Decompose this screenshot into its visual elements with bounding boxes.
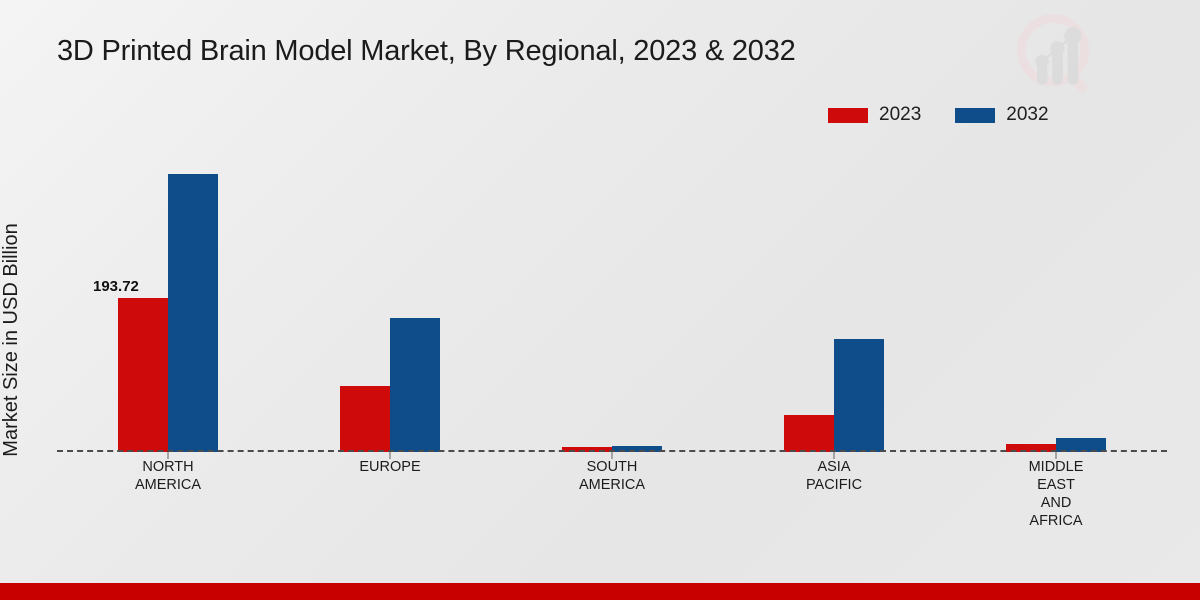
bar-group: MIDDLEEASTANDAFRICA: [945, 150, 1167, 452]
bar-pair: [57, 150, 279, 452]
category-label-line: SOUTH: [512, 458, 712, 476]
category-label-line: EUROPE: [290, 458, 490, 476]
watermark-logo: [1009, 8, 1105, 104]
category-label-line: EAST: [956, 476, 1156, 494]
y-axis-title: Market Size in USD Billion: [0, 175, 23, 505]
x-axis-category-label: SOUTHAMERICA: [512, 458, 712, 494]
legend-label-2023: 2023: [879, 104, 921, 126]
footer-accent-bar: [0, 583, 1200, 600]
bar-pair: [723, 150, 945, 452]
category-label-line: NORTH: [68, 458, 268, 476]
bar-2023[interactable]: [784, 415, 834, 452]
x-axis-baseline: [57, 450, 1167, 452]
bar-2032[interactable]: [168, 174, 218, 452]
bar-2032[interactable]: [390, 318, 440, 452]
category-label-line: AND: [956, 494, 1156, 512]
category-label-line: MIDDLE: [956, 458, 1156, 476]
bar-pair: [279, 150, 501, 452]
legend-swatch-2032: [955, 108, 995, 123]
category-label-line: ASIA: [734, 458, 934, 476]
bar-2023[interactable]: [118, 298, 168, 452]
x-axis-category-label: ASIAPACIFIC: [734, 458, 934, 494]
legend-swatch-2023: [828, 108, 868, 123]
bar-2032[interactable]: [834, 339, 884, 452]
legend-label-2032: 2032: [1006, 104, 1048, 126]
chart-legend: 2023 2032: [828, 104, 1049, 126]
bar-group: EUROPE: [279, 150, 501, 452]
category-label-line: PACIFIC: [734, 476, 934, 494]
legend-item-2023[interactable]: 2023: [828, 104, 921, 126]
page-title: 3D Printed Brain Model Market, By Region…: [57, 35, 796, 68]
bar-group: ASIAPACIFIC: [723, 150, 945, 452]
bar-group: 193.72NORTHAMERICA: [57, 150, 279, 452]
legend-item-2032[interactable]: 2032: [955, 104, 1048, 126]
x-axis-category-label: MIDDLEEASTANDAFRICA: [956, 458, 1156, 530]
x-axis-category-label: EUROPE: [290, 458, 490, 476]
bar-pair: [501, 150, 723, 452]
bar-data-label: 193.72: [93, 278, 139, 295]
bar-pair: [945, 150, 1167, 452]
x-axis-category-label: NORTHAMERICA: [68, 458, 268, 494]
plot-area: 193.72NORTHAMERICAEUROPESOUTHAMERICAASIA…: [57, 150, 1167, 452]
category-label-line: AFRICA: [956, 512, 1156, 530]
bar-2023[interactable]: [340, 386, 390, 452]
category-label-line: AMERICA: [68, 476, 268, 494]
category-label-line: AMERICA: [512, 476, 712, 494]
bar-group: SOUTHAMERICA: [501, 150, 723, 452]
